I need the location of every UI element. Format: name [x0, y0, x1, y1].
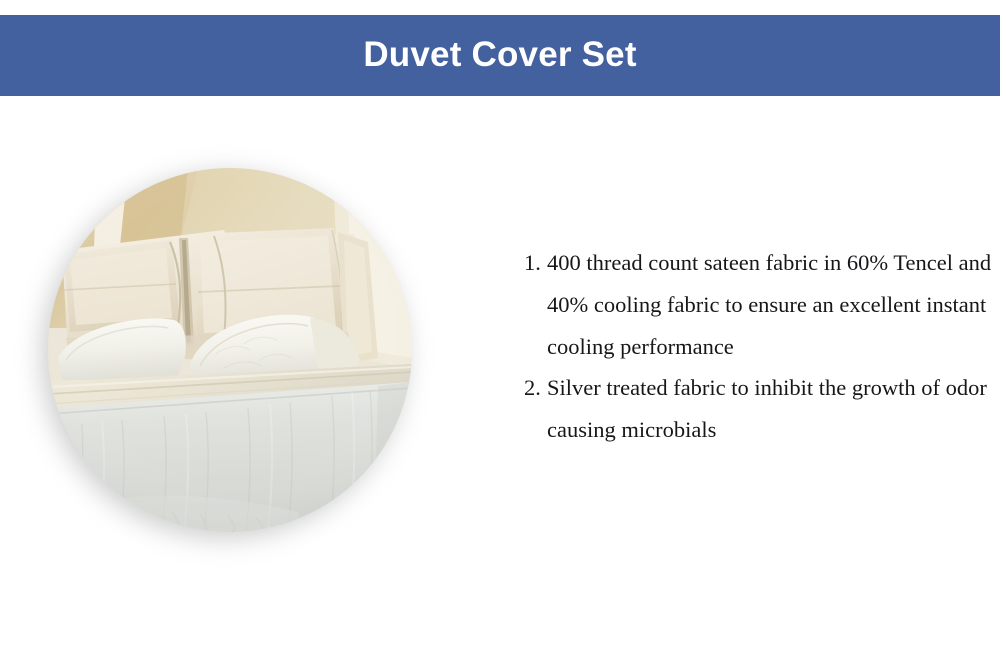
- list-item-text: Silver treated fabric to inhibit the gro…: [547, 367, 1000, 451]
- list-item: 2. Silver treated fabric to inhibit the …: [524, 367, 1000, 451]
- bed-photo-icon: [48, 168, 412, 532]
- header-band: Duvet Cover Set: [0, 15, 1000, 96]
- product-image-container: [48, 168, 412, 532]
- list-item-text: 400 thread count sateen fabric in 60% Te…: [547, 242, 1000, 367]
- slide-canvas: Duvet Cover Set: [0, 0, 1000, 654]
- list-item-number: 1.: [524, 242, 543, 284]
- list-item-number: 2.: [524, 367, 543, 409]
- page-title: Duvet Cover Set: [363, 37, 636, 74]
- feature-list: 1. 400 thread count sateen fabric in 60%…: [484, 242, 1000, 451]
- list-item: 1. 400 thread count sateen fabric in 60%…: [524, 242, 1000, 367]
